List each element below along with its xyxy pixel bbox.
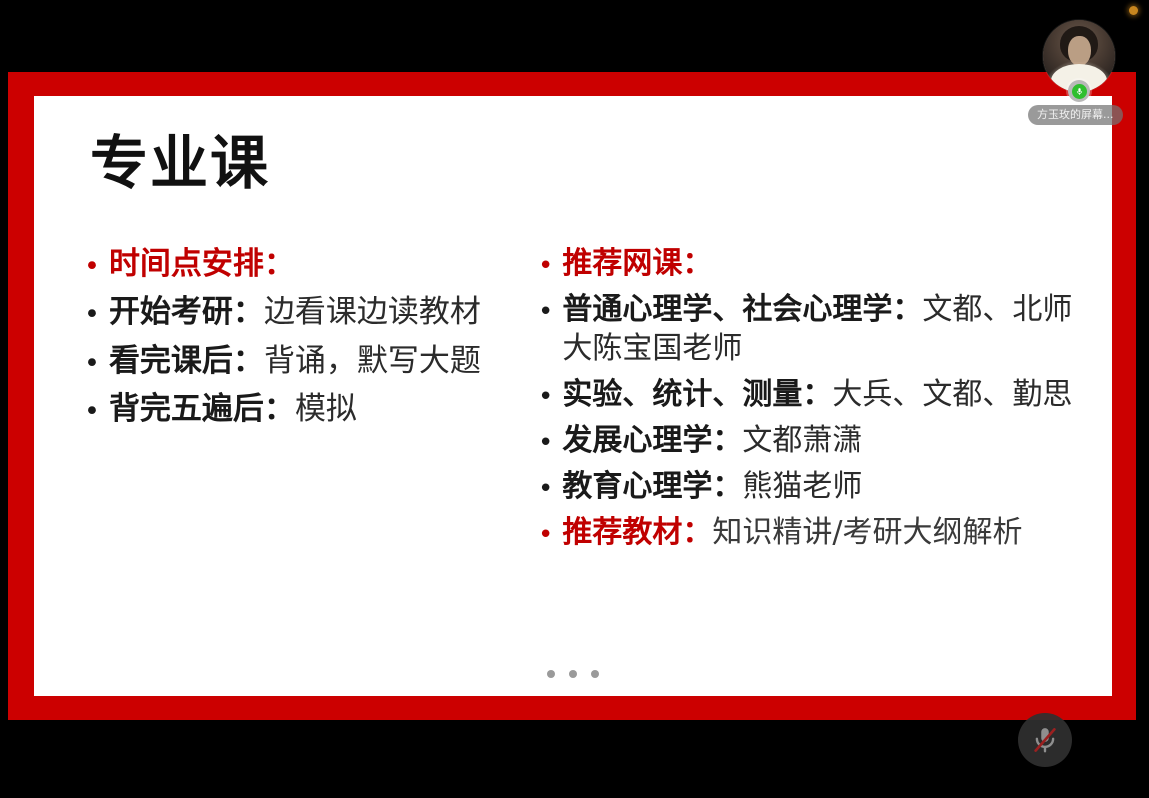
bullet-item: • 普通心理学、社会心理学：文都、北师大陈宝国老师 — [538, 290, 1086, 368]
bullet-text: 开始考研：边看课边读教材 — [109, 292, 526, 332]
bullet-item: • 开始考研：边看课边读教材 — [84, 292, 526, 332]
bullet-rest: 文都萧潇 — [742, 423, 862, 458]
slide-column-left: • 时间点安排： • 开始考研：边看课边读教材 • 看完课后：背诵，默写大题 •… — [34, 244, 532, 437]
slide-title: 专业课 — [90, 132, 270, 195]
bullet-dot-icon: • — [84, 341, 100, 377]
bullet-lead: 普通心理学、社会心理学： — [562, 292, 922, 327]
bullet-dot-icon: • — [84, 292, 100, 328]
slide-columns: • 时间点安排： • 开始考研：边看课边读教材 • 看完课后：背诵，默写大题 •… — [34, 244, 1112, 559]
bullet-rest: 熊猫老师 — [742, 469, 862, 504]
bullet-lead: 发展心理学： — [562, 423, 742, 458]
bullet-item: • 背完五遍后：模拟 — [84, 389, 526, 429]
bullet-lead: 推荐网课： — [562, 246, 712, 281]
mic-active-badge-icon — [1068, 80, 1090, 102]
bullet-text: 实验、统计、测量：大兵、文都、勤思 — [562, 375, 1086, 414]
bullet-lead: 实验、统计、测量： — [562, 377, 832, 412]
bullet-item: • 时间点安排： — [84, 244, 526, 284]
bullet-item: • 教育心理学：熊猫老师 — [538, 467, 1086, 506]
mic-muted-icon — [1030, 725, 1060, 755]
bullet-item: • 推荐网课： — [538, 244, 1086, 283]
bullet-text: 教育心理学：熊猫老师 — [562, 467, 1086, 506]
mic-active-inner-icon — [1072, 84, 1087, 99]
bullet-item: • 推荐教材：知识精讲/考研大纲解析 — [538, 513, 1086, 552]
bullet-lead: 看完课后： — [109, 343, 264, 379]
bullet-text: 发展心理学：文都萧潇 — [562, 421, 1086, 460]
bullet-dot-icon: • — [538, 421, 553, 456]
avatar-face — [1068, 36, 1091, 66]
bullet-item: • 发展心理学：文都萧潇 — [538, 421, 1086, 460]
bullet-dot-icon: • — [84, 244, 100, 280]
bullet-dot-icon: • — [538, 244, 553, 279]
bullet-rest: 模拟 — [295, 391, 357, 427]
slide-column-right: • 推荐网课： • 普通心理学、社会心理学：文都、北师大陈宝国老师 • 实验、统… — [532, 244, 1112, 559]
meeting-stage: 专业课 • 时间点安排： • 开始考研：边看课边读教材 • 看完课后：背诵，默写… — [0, 0, 1149, 798]
slide-pager[interactable] — [34, 670, 1112, 678]
pager-dot-icon[interactable] — [547, 670, 555, 678]
bullet-dot-icon: • — [538, 513, 553, 548]
mute-button[interactable] — [1018, 713, 1072, 767]
bullet-rest: 知识精讲/考研大纲解析 — [712, 515, 1022, 550]
bullet-lead: 教育心理学： — [562, 469, 742, 504]
bullet-text: 看完课后：背诵，默写大题 — [109, 341, 526, 381]
bullet-lead: 时间点安排： — [109, 246, 295, 282]
bullet-text: 推荐网课： — [562, 244, 1086, 283]
bullet-dot-icon: • — [538, 467, 553, 502]
bullet-item: • 实验、统计、测量：大兵、文都、勤思 — [538, 375, 1086, 414]
bullet-lead: 背完五遍后： — [109, 391, 295, 427]
bullet-text: 时间点安排： — [109, 244, 526, 284]
status-led-icon — [1129, 6, 1138, 15]
bullet-lead: 开始考研： — [109, 294, 264, 330]
shared-slide: 专业课 • 时间点安排： • 开始考研：边看课边读教材 • 看完课后：背诵，默写… — [34, 96, 1112, 696]
bullet-rest: 背诵，默写大题 — [264, 343, 481, 379]
bullet-dot-icon: • — [538, 290, 553, 325]
bullet-rest: 边看课边读教材 — [264, 294, 481, 330]
bullet-text: 普通心理学、社会心理学：文都、北师大陈宝国老师 — [562, 290, 1086, 368]
bullet-text: 推荐教材：知识精讲/考研大纲解析 — [562, 513, 1086, 552]
bullet-dot-icon: • — [538, 375, 553, 410]
pager-dot-icon[interactable] — [569, 670, 577, 678]
bullet-rest: 大兵、文都、勤思 — [832, 377, 1072, 412]
bullet-dot-icon: • — [84, 389, 100, 425]
bullet-text: 背完五遍后：模拟 — [109, 389, 526, 429]
share-owner-label: 方玉玫的屏幕... — [1028, 105, 1123, 125]
bullet-item: • 看完课后：背诵，默写大题 — [84, 341, 526, 381]
bullet-lead: 推荐教材： — [562, 515, 712, 550]
pager-dot-icon[interactable] — [591, 670, 599, 678]
